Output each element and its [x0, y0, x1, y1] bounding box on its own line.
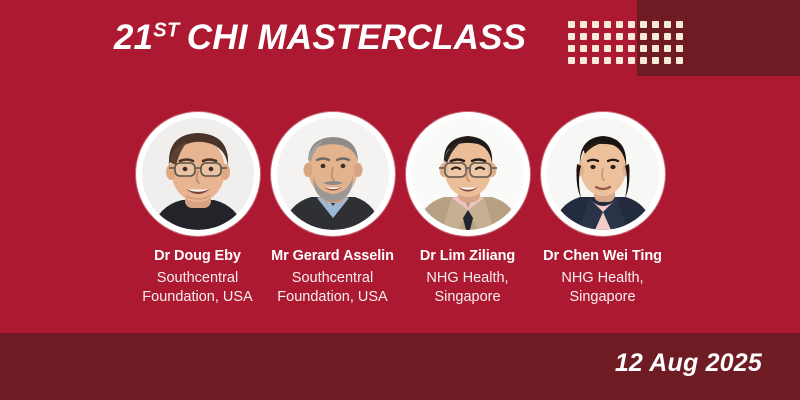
- avatar-ring: [136, 112, 260, 236]
- speaker-name: Dr Chen Wei Ting: [543, 248, 662, 265]
- decorative-dot: [675, 32, 687, 44]
- speaker-list: Dr Doug Eby Southcentral Foundation, USA: [0, 112, 800, 308]
- decorative-dot: [567, 56, 579, 68]
- title-number: 21: [114, 18, 153, 57]
- speaker-affiliation: NHG Health, Singapore: [406, 269, 530, 308]
- avatar-ring: [406, 112, 530, 236]
- speaker-name: Dr Doug Eby: [154, 248, 241, 265]
- speaker-card: Dr Lim Ziliang NHG Health, Singapore: [406, 112, 530, 308]
- decorative-dot: [639, 44, 651, 56]
- decorative-dot: [675, 44, 687, 56]
- speaker-affiliation: Southcentral Foundation, USA: [271, 269, 395, 308]
- decorative-dot: [603, 56, 615, 68]
- decorative-dot: [639, 56, 651, 68]
- decorative-dot: [591, 56, 603, 68]
- decorative-dot: [615, 56, 627, 68]
- decorative-dot: [663, 32, 675, 44]
- speaker-card: Dr Chen Wei Ting NHG Health, Singapore: [541, 112, 665, 308]
- decorative-dot: [639, 20, 651, 32]
- decorative-dot: [675, 20, 687, 32]
- avatar-ring: [541, 112, 665, 236]
- speaker-card: Mr Gerard Asselin Southcentral Foundatio…: [271, 112, 395, 308]
- title-ordinal-suffix: ST: [153, 19, 180, 41]
- portrait-lim-ziliang: [412, 118, 524, 230]
- speaker-affiliation: NHG Health, Singapore: [541, 269, 665, 308]
- decorative-dot: [627, 56, 639, 68]
- decorative-dot: [651, 56, 663, 68]
- date-band: 12 Aug 2025: [0, 333, 800, 400]
- decorative-dot: [651, 44, 663, 56]
- title-rest: CHI MASTERCLASS: [187, 18, 526, 57]
- decorative-dot: [651, 32, 663, 44]
- portrait-chen-wei-ting: [547, 118, 659, 230]
- speaker-name: Dr Lim Ziliang: [420, 248, 515, 265]
- speaker-affiliation: Southcentral Foundation, USA: [136, 269, 260, 308]
- speaker-card: Dr Doug Eby Southcentral Foundation, USA: [136, 112, 260, 308]
- decorative-dot: [663, 20, 675, 32]
- decorative-dot: [651, 20, 663, 32]
- event-date: 12 Aug 2025: [615, 349, 762, 378]
- avatar-ring: [271, 112, 395, 236]
- banner-title-text: 21STCHI MASTERCLASS: [114, 20, 526, 55]
- decorative-dot: [675, 56, 687, 68]
- portrait-gerard-asselin: [277, 118, 389, 230]
- speaker-name: Mr Gerard Asselin: [271, 248, 394, 265]
- decorative-dot: [639, 32, 651, 44]
- portrait-doug-eby: [142, 118, 254, 230]
- decorative-dot: [663, 44, 675, 56]
- decorative-dot: [663, 56, 675, 68]
- chi-masterclass-banner: 21STCHI MASTERCLASS: [0, 0, 800, 400]
- banner-title: 21STCHI MASTERCLASS: [0, 20, 640, 55]
- decorative-dot: [579, 56, 591, 68]
